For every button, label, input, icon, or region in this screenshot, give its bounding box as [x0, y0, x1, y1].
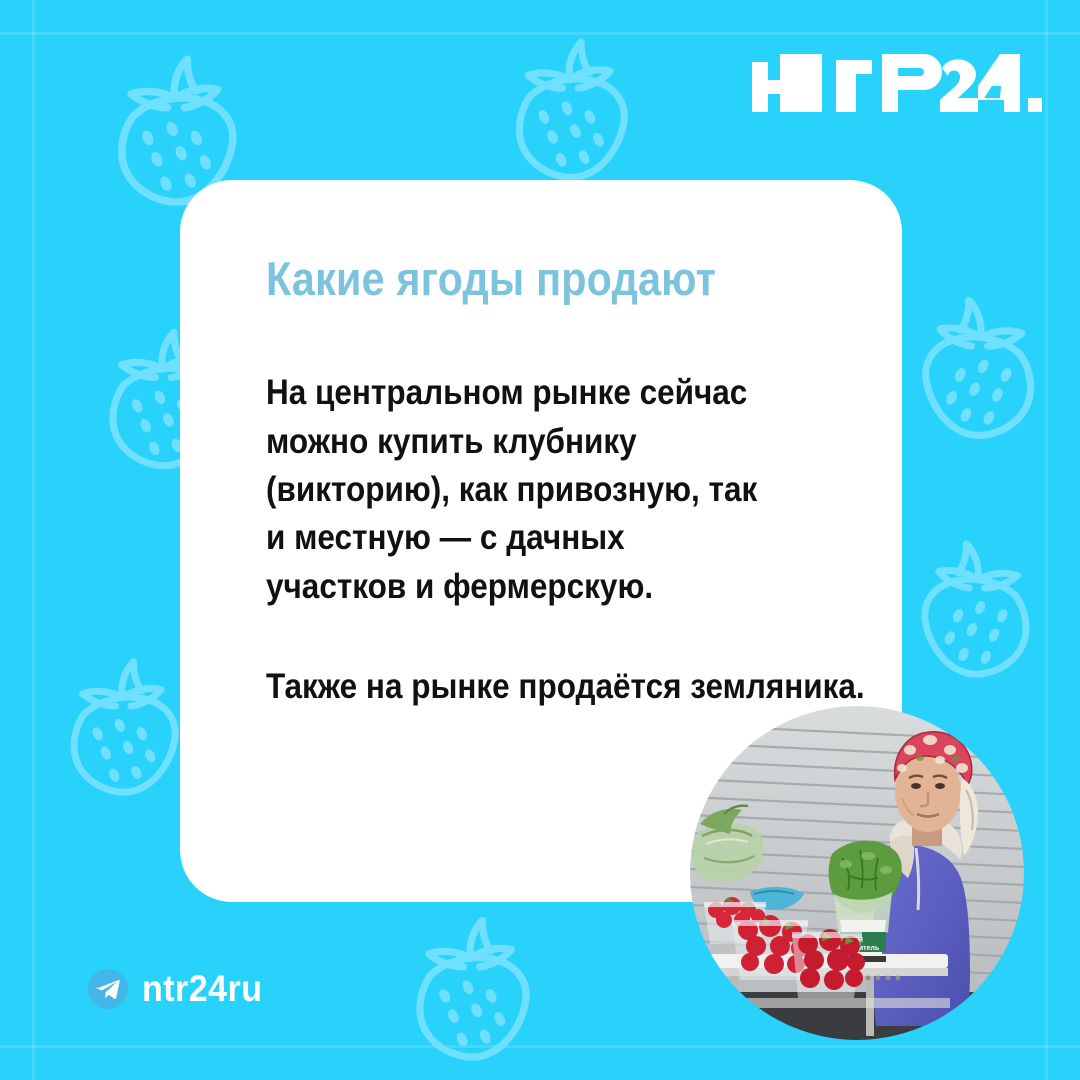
telegram-footer[interactable]: ntr24ru: [88, 968, 273, 1010]
ntr24-logo[interactable]: [752, 48, 1042, 118]
guide-line-top: [0, 32, 1080, 35]
strawberry-icon: [34, 648, 200, 814]
body-paragraph: На центральном рынке сейчас можно купить…: [266, 369, 770, 610]
guide-line-bottom: [0, 1045, 1080, 1048]
telegram-icon: [88, 969, 128, 1009]
strawberry-icon: [378, 906, 552, 1080]
guide-line-right: [1045, 0, 1048, 1080]
page-title: Какие ягоды продают: [266, 254, 773, 303]
guide-line-left: [32, 0, 35, 1080]
telegram-handle[interactable]: ntr24ru: [142, 968, 263, 1010]
market-vendor-photo: КЛЕН строитель: [690, 706, 1024, 1040]
strawberry-icon: [900, 530, 1066, 696]
strawberry-icon: [900, 286, 1072, 458]
card-content: Какие ягоды продают На центральном рынке…: [266, 254, 842, 711]
poster-canvas: Какие ягоды продают На центральном рынке…: [0, 0, 1080, 1080]
strawberry-icon: [478, 28, 650, 200]
body-paragraph: Также на рынке продаётся земляника.: [266, 663, 770, 711]
